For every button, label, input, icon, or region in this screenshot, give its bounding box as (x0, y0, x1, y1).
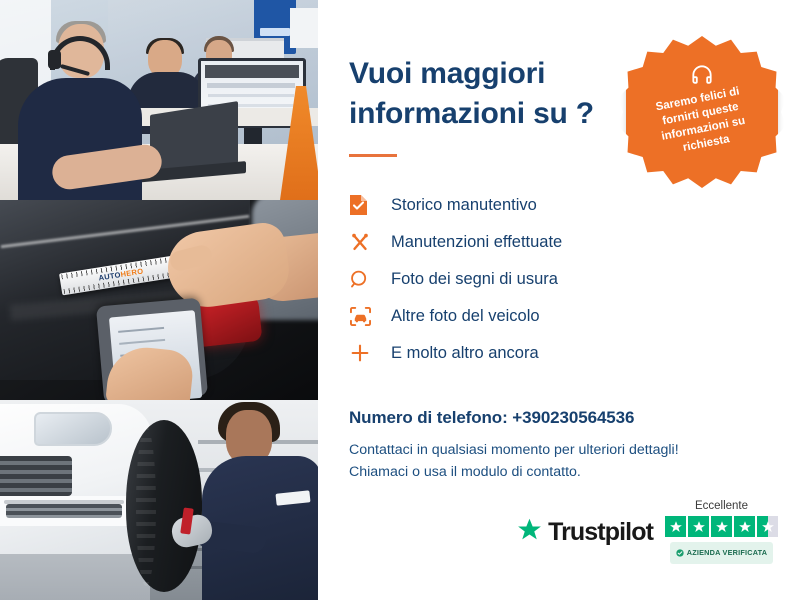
car-headlight (34, 412, 112, 446)
feature-item-service-history: Storico manutentivo (349, 187, 800, 224)
promo-banner: AUTOHERO (0, 0, 800, 600)
feature-label: E molto altro ancora (391, 345, 539, 362)
feature-label: Storico manutentivo (391, 197, 537, 214)
plus-icon (349, 342, 379, 364)
feature-item-much-more: E molto altro ancora (349, 335, 800, 372)
contact-block: Numero di telefono: +390230564536 Contat… (349, 408, 800, 483)
star-filled (711, 516, 732, 537)
trustpilot-widget[interactable]: Trustpilot Eccellente (516, 501, 778, 565)
feature-list: Storico manutentivo Manutenzioni effettu… (349, 187, 800, 372)
trustpilot-star-icon (516, 517, 543, 548)
star-filled (734, 516, 755, 537)
star-filled (688, 516, 709, 537)
magnifier-icon (349, 269, 379, 290)
verified-business-badge: AZIENDA VERIFICATA (670, 542, 773, 564)
contact-description: Contattaci in qualsiasi momento per ulte… (349, 439, 800, 483)
call-center-agents-photo (0, 0, 318, 200)
star-half (757, 516, 778, 537)
title-underline-accent (349, 154, 397, 157)
page-title: Vuoi maggiori informazioni su ? (349, 54, 639, 134)
feature-item-more-photos: Altre foto del veicolo (349, 298, 800, 335)
badge-content: Saremo felici di fornirti queste informa… (626, 36, 778, 188)
bumper-vent (6, 504, 122, 518)
feature-item-wear-photos: Foto dei segni di usura (349, 261, 800, 298)
car-scan-icon (349, 306, 379, 327)
star-filled (665, 516, 686, 537)
headset-icon (689, 62, 715, 88)
car-grille (0, 456, 72, 496)
feature-label: Manutenzioni effettuate (391, 234, 562, 251)
trustpilot-brand: Trustpilot (516, 517, 653, 548)
feature-item-maintenance-done: Manutenzioni effettuate (349, 224, 800, 261)
verified-check-icon (676, 544, 684, 562)
trustpilot-wordmark: Trustpilot (548, 520, 653, 545)
trustpilot-rating: Eccellente (665, 501, 778, 565)
agent-1-headset-earcup (48, 50, 61, 69)
trustpilot-rating-label: Eccellente (695, 501, 748, 513)
contact-description-line-2: Chiamaci o usa il modulo di contatto. (349, 461, 800, 483)
badge-text: Saremo felici di fornirti queste informa… (638, 81, 765, 162)
tyre-inspection-photo (0, 400, 318, 600)
tools-icon (349, 231, 379, 253)
vehicle-inspection-ruler-photo: AUTOHERO (0, 200, 318, 400)
wall-poster-white (290, 8, 318, 48)
feature-label: Altre foto del veicolo (391, 308, 540, 325)
contact-description-line-1: Contattaci in qualsiasi momento per ulte… (349, 439, 800, 461)
feature-label: Foto dei segni di usura (391, 271, 558, 288)
verified-business-text: AZIENDA VERIFICATA (687, 549, 767, 556)
promo-content-panel: Vuoi maggiori informazioni su ? Saremo f… (318, 0, 800, 600)
info-on-request-badge: Saremo felici di fornirti queste informa… (626, 36, 778, 188)
trustpilot-stars (665, 516, 778, 537)
document-check-icon (349, 194, 379, 216)
photo-gallery: AUTOHERO (0, 0, 318, 600)
phone-number-title: Numero di telefono: +390230564536 (349, 408, 800, 428)
tyre-tread (136, 426, 156, 586)
